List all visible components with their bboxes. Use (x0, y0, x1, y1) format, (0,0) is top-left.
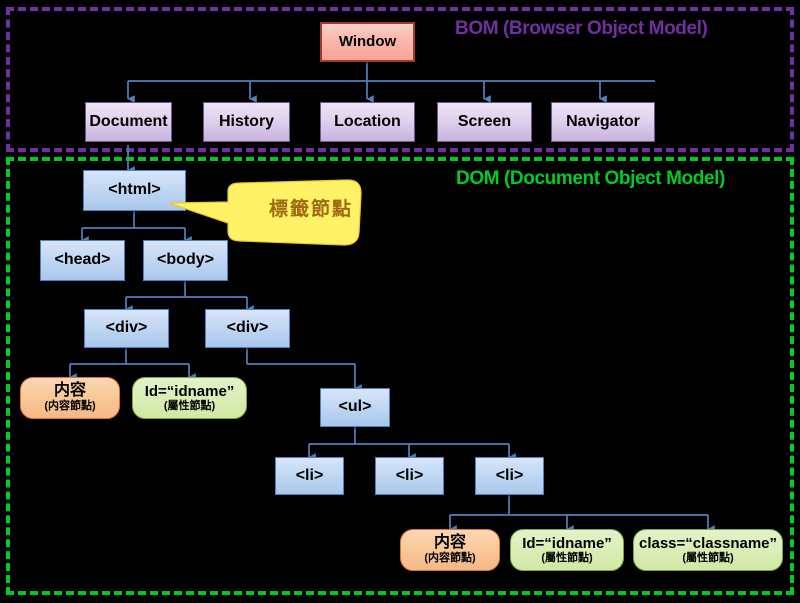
node-li-3-label: <li> (496, 468, 524, 485)
node-content-1[interactable]: 内容 (内容節點) (20, 377, 120, 419)
dom-section-title: DOM (Document Object Model) (456, 168, 725, 190)
node-div-1[interactable]: <div> (84, 309, 169, 348)
node-li-1-label: <li> (296, 468, 324, 485)
node-li-2-label: <li> (396, 468, 424, 485)
node-screen-label: Screen (458, 114, 511, 131)
node-attribute-1-sublabel: (屬性節點) (164, 401, 215, 413)
node-attribute-3-label: class=“classname” (639, 536, 777, 552)
node-location[interactable]: Location (320, 102, 415, 142)
node-document-label: Document (89, 114, 167, 131)
node-ul-label: <ul> (339, 399, 372, 416)
node-attribute-1-label: Id=“idname” (145, 384, 235, 400)
node-li-3[interactable]: <li> (475, 457, 544, 495)
node-head-label: <head> (54, 252, 110, 269)
node-history[interactable]: History (203, 102, 290, 142)
node-attribute-2-sublabel: (屬性節點) (541, 553, 592, 565)
node-navigator[interactable]: Navigator (551, 102, 655, 142)
node-head[interactable]: <head> (40, 240, 125, 281)
node-div-2-label: <div> (227, 320, 269, 337)
node-attribute-2-label: Id=“idname” (522, 536, 612, 552)
node-navigator-label: Navigator (566, 114, 640, 131)
callout-text: 標籤節點 (228, 181, 386, 236)
node-document[interactable]: Document (85, 102, 172, 142)
diagram-canvas: BOM (Browser Object Model) DOM (Document… (0, 0, 800, 603)
node-attribute-2[interactable]: Id=“idname” (屬性節點) (510, 529, 624, 571)
node-ul[interactable]: <ul> (320, 388, 390, 427)
node-location-label: Location (334, 114, 401, 131)
node-attribute-3[interactable]: class=“classname” (屬性節點) (633, 529, 783, 571)
node-li-2[interactable]: <li> (375, 457, 444, 495)
node-content-2-sublabel: (内容節點) (424, 553, 475, 565)
node-screen[interactable]: Screen (437, 102, 532, 142)
node-window-label: Window (339, 34, 396, 50)
node-window[interactable]: Window (320, 22, 415, 62)
node-attribute-3-sublabel: (屬性節點) (682, 553, 733, 565)
node-body-label: <body> (157, 252, 214, 269)
node-attribute-1[interactable]: Id=“idname” (屬性節點) (132, 377, 247, 419)
callout-tag-node[interactable]: 標籤節點 (228, 181, 386, 236)
node-html-label: <html> (108, 182, 160, 199)
node-content-1-label: 内容 (54, 383, 86, 400)
bom-section-title: BOM (Browser Object Model) (455, 18, 707, 40)
node-div-1-label: <div> (106, 320, 148, 337)
node-content-2-label: 内容 (434, 535, 466, 552)
node-div-2[interactable]: <div> (205, 309, 290, 348)
node-li-1[interactable]: <li> (275, 457, 344, 495)
node-content-2[interactable]: 内容 (内容節點) (400, 529, 500, 571)
node-history-label: History (219, 114, 274, 131)
node-content-1-sublabel: (内容節點) (44, 401, 95, 413)
